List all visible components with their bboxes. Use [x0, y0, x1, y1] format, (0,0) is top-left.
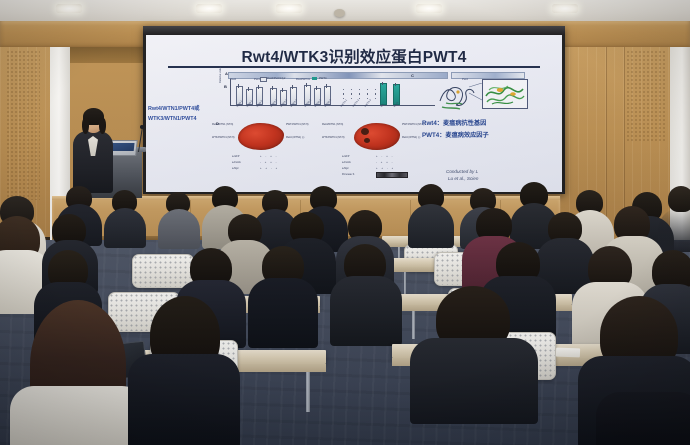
inset-leader-lines: [468, 83, 484, 101]
chart-errorbar: [258, 85, 259, 89]
screen-roller: [143, 26, 565, 35]
leaf-genotype-label: Rwt4 (WTN1) (-): [402, 136, 420, 139]
blot-plusminus-row: - + + -: [260, 161, 278, 164]
blot-plusminus-row: + - + -: [260, 155, 278, 158]
panel-letter-a: A: [225, 71, 228, 76]
slide-credit-line-2: Lu et al., Scien: [448, 176, 478, 183]
chart-errorbar: [395, 83, 396, 86]
slide-credit-line-1: Conducted by L: [446, 169, 478, 176]
chart-errorbar: [292, 85, 293, 89]
chart-errorbar: [382, 82, 383, 85]
slide-side-label-2: WTK3/WTN1/PWT4: [148, 115, 197, 124]
blot-row-label: a-GFP: [232, 155, 239, 158]
slide-note-pwt4: PWT4：麦瘟病效应因子: [422, 131, 489, 142]
leaf-lesion-image: [238, 123, 284, 150]
ceiling-light: [416, 4, 442, 13]
slide-side-label-1: Rwt4/WTN1/PWT4或: [148, 105, 200, 114]
title-underline: [168, 66, 540, 68]
ceiling-light: [552, 4, 578, 13]
blot-row-label: a-GFP: [342, 155, 349, 158]
blot-plusminus-row: + + - +: [260, 167, 279, 170]
legend-swatch: [260, 77, 267, 82]
leaf-genotype-label: WTK3/WTN1 (NT/3): [212, 136, 235, 139]
ceiling-light: [56, 4, 82, 13]
figure-dot-matrix: [342, 87, 377, 101]
laptop-screen: [110, 143, 135, 151]
blot-row-label: a-Myc: [232, 167, 239, 170]
legend-label: Rwt4/PwtOnly2: [267, 77, 285, 80]
leaf-genotype-label: Rwt4/WTN1 (NT/3): [212, 123, 233, 126]
leaf-genotype-label: Rwt4 (WTN1) (-): [286, 136, 304, 139]
blot-plusminus-row: + + - +: [376, 167, 395, 170]
ceiling-light: [276, 4, 302, 13]
blot-plusminus-row: + - + -: [376, 155, 394, 158]
chart-errorbar: [272, 86, 273, 90]
legend-label: PWT4: [319, 77, 326, 80]
leaf-genotype-label: Rwt4/WTN1 (NT/3): [322, 123, 343, 126]
paper-note: [556, 348, 580, 358]
projection-screen: Rwt4/WTK3识别效应蛋白PWT4 Rwt4 Pwt1 Rwt4/WTN1 …: [146, 35, 562, 192]
wood-seam: [606, 47, 607, 242]
western-blot-band: [376, 172, 408, 178]
chart-errorbar: [238, 84, 239, 88]
presenter-hair: [99, 118, 106, 134]
chart-errorbar: [306, 83, 307, 87]
ceiling-light: [196, 4, 222, 13]
lecture-hall-photo: Rwt4/WTK3识别效应蛋白PWT4 Rwt4 Pwt1 Rwt4/WTN1 …: [0, 0, 690, 445]
panel-letter-b: B: [224, 84, 227, 89]
ceiling: [0, 0, 690, 22]
chart-errorbar: [248, 87, 249, 91]
blot-row-label: a-Myc: [342, 167, 349, 170]
chart-errorbar: [282, 88, 283, 92]
chart-bar-highlight: [380, 83, 387, 105]
figure-bar-chart: Relative value Rwt4/PwtOnly2: [230, 79, 435, 109]
panel-letter-c: C: [411, 73, 414, 78]
chart-errorbar: [316, 86, 317, 90]
leaf-genotype-label: PWT4/WTN1 (NT/3): [286, 123, 309, 126]
slide-title: Rwt4/WTK3识别效应蛋白PWT4: [146, 45, 562, 67]
chart-y-axis: [230, 79, 231, 105]
chart-x-axis: [230, 105, 435, 106]
presenter-hair: [82, 118, 89, 134]
blot-row-label: Ponceau S: [342, 173, 354, 176]
acoustic-perforation: [6, 50, 40, 200]
legend-swatch: [312, 77, 317, 80]
blot-row-label: a-FLAG: [232, 161, 241, 164]
slide-note-rwt4: Rwt4：麦瘟病抗性基因: [422, 119, 486, 130]
microphone-icon: [140, 125, 144, 129]
leaf-lesion-image: [354, 123, 400, 150]
protein-structure-inset: [482, 79, 528, 109]
blot-plusminus-row: - + + -: [376, 161, 394, 164]
ceiling-vent-icon: [334, 9, 345, 17]
chart-y-label: Relative value: [219, 67, 222, 83]
acoustic-perforation: [626, 50, 666, 142]
leaf-genotype-label: WTK3/WTN1 (NT/3): [322, 136, 345, 139]
blot-row-label: a-FLAG: [342, 161, 351, 164]
chart-errorbar: [326, 84, 327, 88]
